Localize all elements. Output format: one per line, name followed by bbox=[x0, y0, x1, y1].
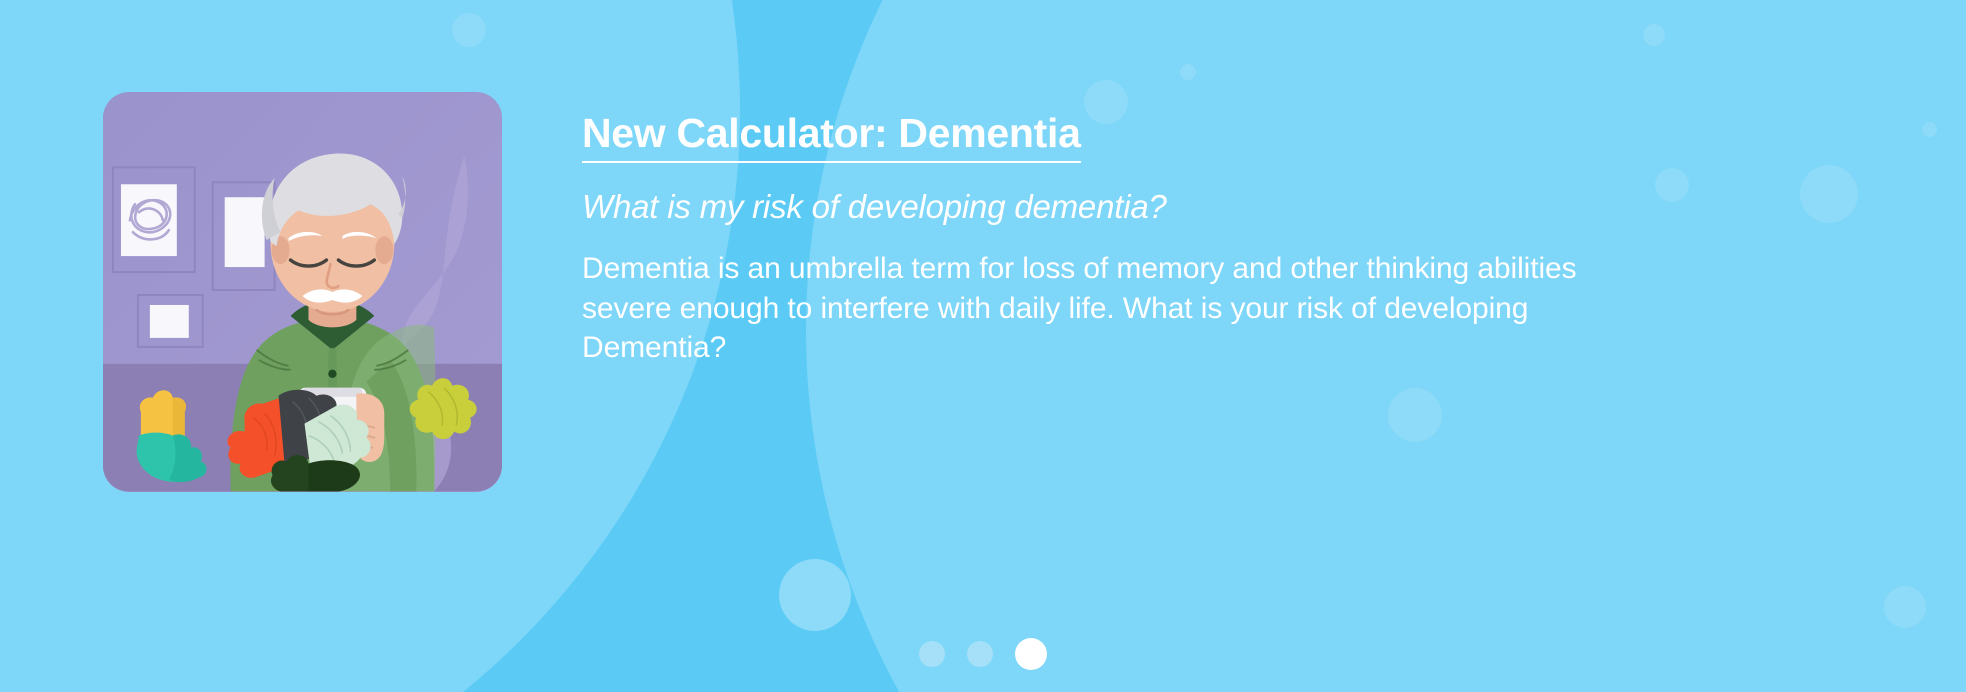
bubble-7 bbox=[1388, 388, 1442, 442]
dementia-illustration-card bbox=[103, 92, 502, 492]
bubble-8 bbox=[779, 559, 851, 631]
subheadline: What is my risk of developing dementia? bbox=[582, 188, 1852, 226]
carousel-dot-1[interactable] bbox=[919, 641, 945, 667]
bubble-1 bbox=[452, 13, 486, 47]
body-text: Dementia is an umbrella term for loss of… bbox=[582, 249, 1592, 368]
carousel-dot-2[interactable] bbox=[967, 641, 993, 667]
bubble-6 bbox=[1922, 122, 1937, 137]
elderly-man-illustration bbox=[103, 92, 502, 492]
carousel-dot-3[interactable] bbox=[1015, 638, 1047, 670]
carousel-pagination bbox=[0, 638, 1966, 670]
promo-text-column: New Calculator: Dementia What is my risk… bbox=[582, 110, 1852, 368]
bubble-3 bbox=[1180, 64, 1196, 80]
bubble-9 bbox=[1884, 586, 1926, 628]
bubble-10 bbox=[1643, 24, 1665, 46]
headline-link[interactable]: New Calculator: Dementia bbox=[582, 110, 1081, 163]
promo-banner: New Calculator: Dementia What is my risk… bbox=[0, 0, 1966, 692]
